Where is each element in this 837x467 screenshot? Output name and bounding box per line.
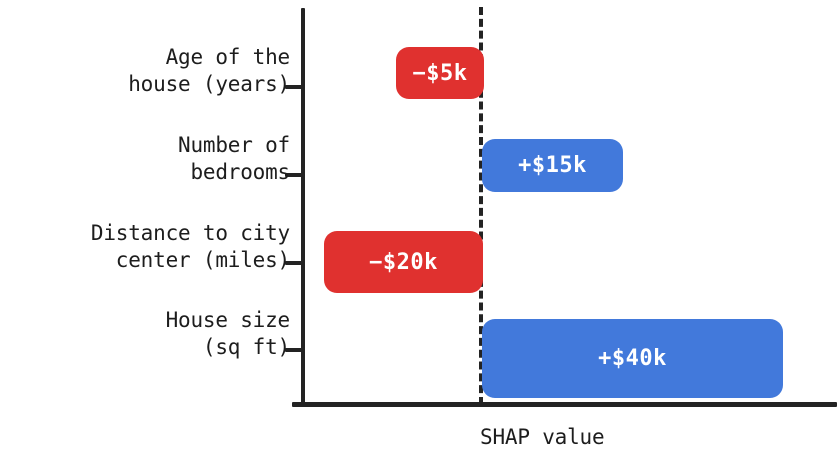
- bar-value-label: +$40k: [598, 346, 667, 371]
- x-axis-line: [292, 402, 837, 407]
- bar-value-label: −$5k: [413, 61, 468, 86]
- bar-house-size[interactable]: +$40k: [482, 319, 783, 398]
- bar-distance-to-city-center[interactable]: −$20k: [324, 231, 483, 293]
- category-label-age-of-the-house: Age of the house (years): [20, 44, 290, 98]
- y-axis-line: [301, 8, 305, 406]
- category-label-distance-to-city-center: Distance to city center (miles): [20, 220, 290, 274]
- bar-age-of-the-house[interactable]: −$5k: [396, 47, 484, 99]
- shap-value-chart: Age of the house (years) Number of bedro…: [0, 0, 837, 467]
- bar-value-label: −$20k: [369, 250, 438, 275]
- bar-number-of-bedrooms[interactable]: +$15k: [482, 139, 623, 192]
- x-axis-title: SHAP value: [480, 425, 604, 449]
- bar-value-label: +$15k: [518, 153, 587, 178]
- category-label-number-of-bedrooms: Number of bedrooms: [20, 132, 290, 186]
- category-label-house-size: House size (sq ft): [20, 307, 290, 361]
